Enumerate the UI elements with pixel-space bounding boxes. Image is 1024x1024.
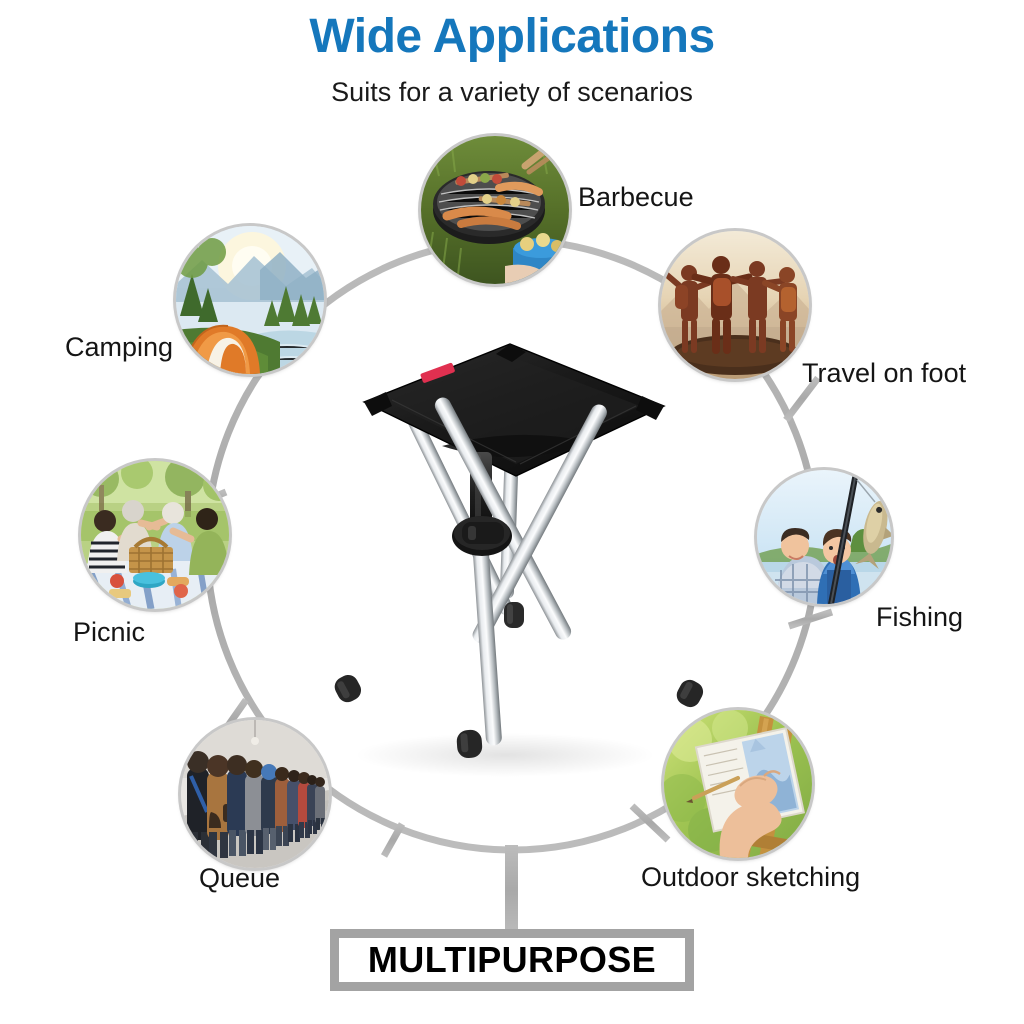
infographic-canvas: Wide Applications Suits for a variety of… bbox=[0, 0, 1024, 1024]
label-outdoor-sketching: Outdoor sketching bbox=[641, 861, 860, 893]
stool-foot-cap-front bbox=[456, 729, 483, 759]
label-picnic: Picnic bbox=[73, 616, 145, 648]
stool-seat bbox=[364, 344, 664, 476]
stool-foot-cap-left bbox=[331, 671, 364, 705]
label-travel-on-foot: Travel on foot bbox=[802, 357, 966, 389]
stool-foot-cap-right bbox=[673, 676, 706, 710]
bubble-picnic[interactable] bbox=[81, 461, 229, 609]
bubble-barbecue[interactable] bbox=[421, 136, 569, 284]
label-fishing: Fishing bbox=[876, 601, 963, 633]
banner-connector bbox=[505, 845, 518, 937]
label-camping: Camping bbox=[65, 331, 173, 363]
multipurpose-banner: MULTIPURPOSE bbox=[330, 929, 694, 991]
folding-stool-illustration bbox=[292, 330, 732, 760]
multipurpose-label: MULTIPURPOSE bbox=[368, 940, 656, 980]
picnic-photo bbox=[81, 461, 229, 609]
fishing-photo bbox=[757, 470, 891, 604]
product-image-folding-stool bbox=[292, 330, 732, 760]
stool-pivot-hub bbox=[452, 516, 512, 556]
bubble-fishing[interactable] bbox=[757, 470, 891, 604]
label-barbecue: Barbecue bbox=[578, 181, 694, 213]
grill-photo bbox=[421, 136, 569, 284]
label-queue: Queue bbox=[199, 862, 280, 894]
